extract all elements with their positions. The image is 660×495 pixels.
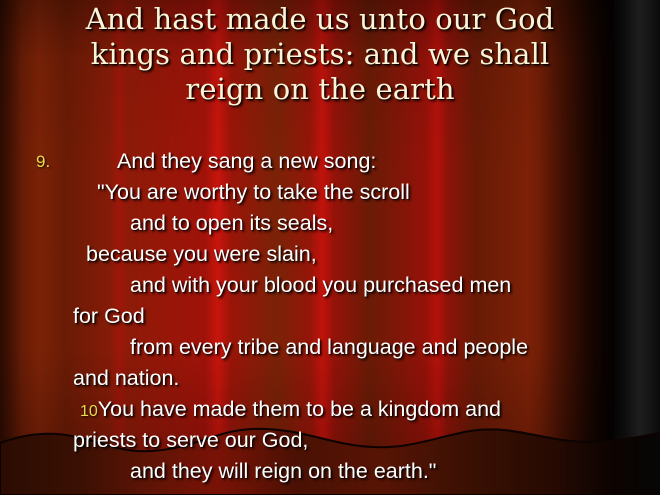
body-line: because you were slain,	[0, 239, 660, 270]
body-line-text: because you were slain,	[86, 239, 317, 270]
list-bullet-number: 9.	[36, 146, 50, 177]
body-line: "You are worthy to take the scroll	[0, 177, 660, 208]
presentation-slide: And hast made us unto our God kings and …	[0, 0, 660, 495]
body-line: for God	[0, 301, 660, 332]
body-line-text: and with your blood you purchased men	[130, 270, 511, 301]
verse-number: 10	[80, 403, 98, 420]
body-line-text: And they sang a new song:	[117, 146, 376, 177]
body-line-text: "You are worthy to take the scroll	[97, 177, 410, 208]
body-line-text: You have made them to be a kingdom and	[98, 394, 501, 425]
slide-title: And hast made us unto our God kings and …	[40, 2, 600, 107]
body-line: and with your blood you purchased men	[0, 270, 660, 301]
body-line-text: priests to serve our God,	[73, 425, 308, 456]
body-line: and they will reign on the earth."	[0, 456, 660, 487]
body-line: priests to serve our God,	[0, 425, 660, 456]
body-line-text: and nation.	[73, 363, 179, 394]
title-line-1: And hast made us unto our God	[40, 2, 600, 37]
body-line: from every tribe and language and people	[0, 332, 660, 363]
body-line: and to open its seals,	[0, 208, 660, 239]
body-line-text: from every tribe and language and people	[130, 332, 528, 363]
body-line-text: and they will reign on the earth."	[130, 456, 436, 487]
title-line-2: kings and priests: and we shall	[40, 37, 600, 72]
slide-body-text: 9. And they sang a new song: "You are wo…	[0, 146, 660, 487]
body-line: 10You have made them to be a kingdom and	[0, 394, 660, 425]
title-line-3: reign on the earth	[40, 72, 600, 107]
body-line: and nation.	[0, 363, 660, 394]
body-line-text: for God	[73, 301, 145, 332]
body-line-text: and to open its seals,	[130, 208, 333, 239]
body-line: 9. And they sang a new song:	[0, 146, 660, 177]
